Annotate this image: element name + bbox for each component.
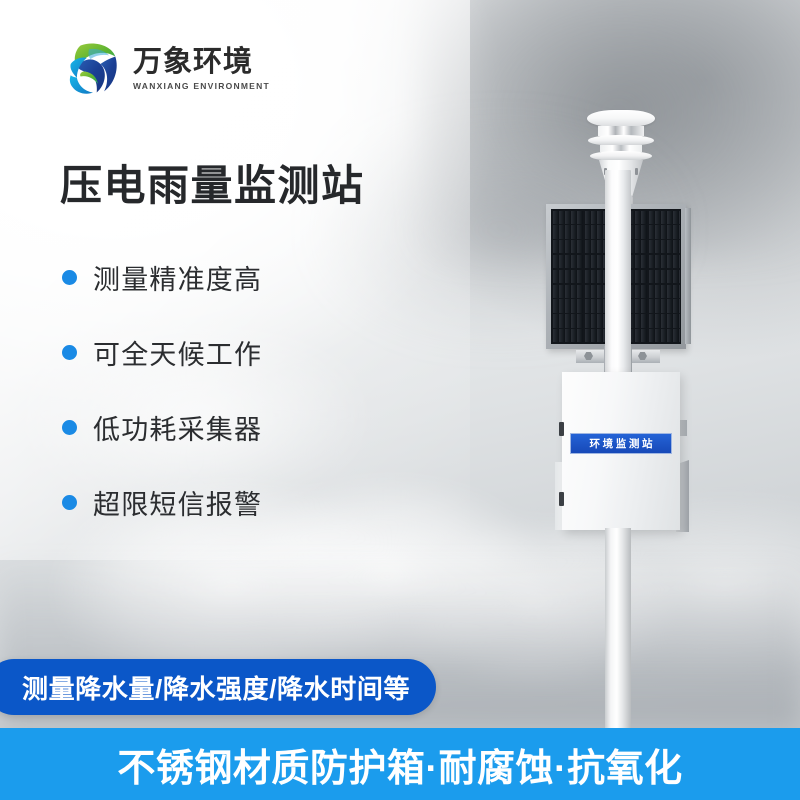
sensor-plate-2 xyxy=(590,151,652,161)
feature-item-4: 超限短信报警 xyxy=(62,483,262,522)
bullet-dot-icon xyxy=(62,495,77,510)
page-title: 压电雨量监测站 xyxy=(60,163,365,209)
feature-label: 低功耗采集器 xyxy=(93,408,262,447)
solar-panel-side-edge xyxy=(685,208,691,344)
bullet-dot-icon xyxy=(62,420,77,435)
brand-logo: 万象环境 WANXIANG ENVIRONMENT xyxy=(62,38,270,100)
globe-swirl-logo-icon xyxy=(62,38,124,100)
brand-wordmark: 万象环境 WANXIANG ENVIRONMENT xyxy=(133,47,270,91)
feature-item-1: 测量精准度高 xyxy=(62,258,262,297)
feature-item-3: 低功耗采集器 xyxy=(62,408,262,447)
sensor-vent-hole xyxy=(635,168,638,175)
bottom-highlight-bar: 不锈钢材质防护箱·耐腐蚀·抗氧化 xyxy=(0,728,800,800)
enclosure-nameplate: 环境监测站 xyxy=(570,433,672,454)
brand-name-cn: 万象环境 xyxy=(133,47,270,77)
feature-list: 测量精准度高 可全天候工作 低功耗采集器 超限短信报警 xyxy=(62,258,262,522)
feature-label: 可全天候工作 xyxy=(93,333,262,372)
feature-summary-banner: 测量降水量/降水强度/降水时间等 xyxy=(0,659,436,715)
sensor-top-cap xyxy=(587,110,655,127)
bottom-highlight-bar-text: 不锈钢材质防护箱·耐腐蚀·抗氧化 xyxy=(117,737,682,792)
product-image: 环境监测站 xyxy=(500,100,780,660)
feature-summary-banner-text: 测量降水量/降水强度/降水时间等 xyxy=(22,669,410,706)
product-poster: 万象环境 WANXIANG ENVIRONMENT 压电雨量监测站 测量精准度高… xyxy=(0,0,800,800)
feature-label: 超限短信报警 xyxy=(93,483,262,522)
brand-name-en: WANXIANG ENVIRONMENT xyxy=(133,81,270,91)
feature-label: 测量精准度高 xyxy=(93,258,262,297)
feature-item-2: 可全天候工作 xyxy=(62,333,262,372)
bullet-dot-icon xyxy=(62,345,77,360)
bullet-dot-icon xyxy=(62,270,77,285)
enclosure-nameplate-text: 环境监测站 xyxy=(587,436,655,451)
enclosure-latch-top xyxy=(559,422,564,436)
enclosure-latch-bottom xyxy=(559,492,564,506)
